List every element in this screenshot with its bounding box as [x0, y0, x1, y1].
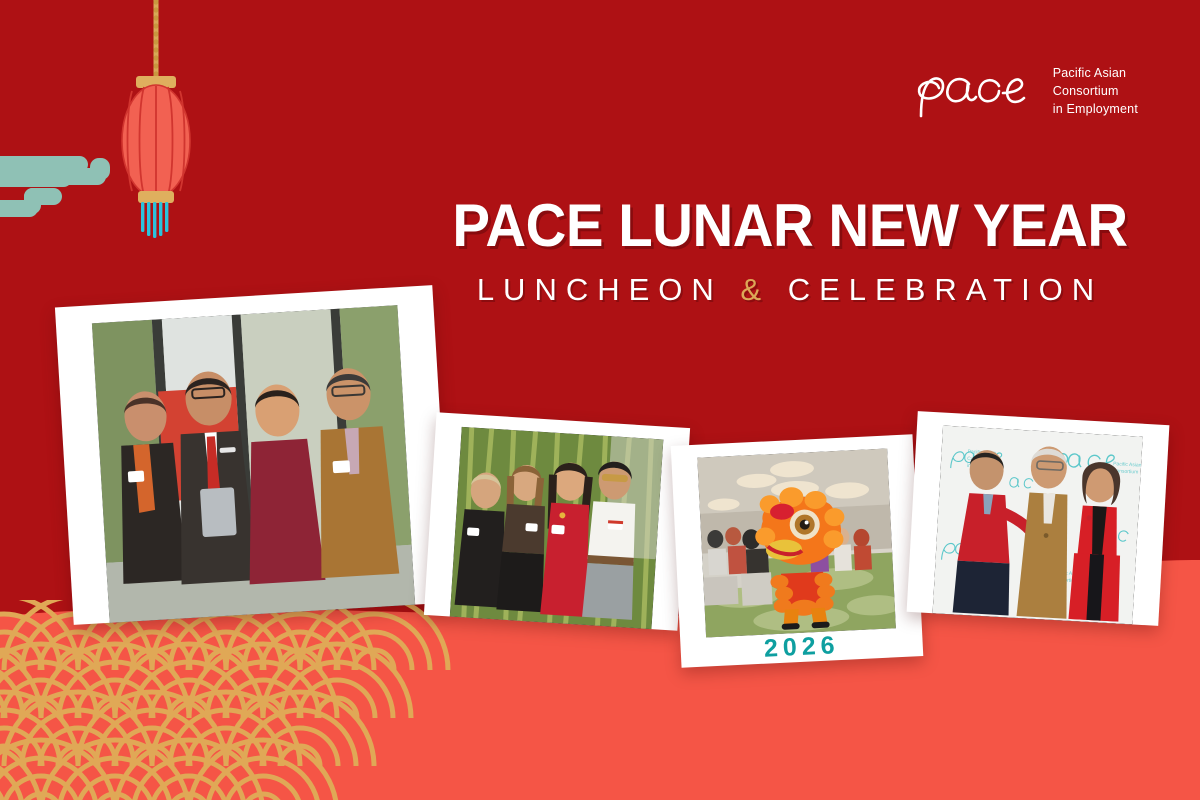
subtitle-ampersand: & — [740, 272, 770, 307]
polaroid-photo-group-bamboo[interactable] — [424, 412, 690, 631]
photo-award-presentation — [92, 305, 415, 623]
polaroid-photo-step-and-repeat[interactable]: Pacific Asian Consortium in Employment P… — [907, 411, 1170, 626]
flyer-canvas: Pacific Asian Consortium in Employment P… — [0, 0, 1200, 800]
subtitle-part-luncheon: LUNCHEON — [477, 272, 741, 307]
photo-step-and-repeat: Pacific Asian Consortium in Employment P… — [933, 426, 1143, 625]
photo-group-bamboo — [450, 427, 664, 629]
headline-block: PACE LUNAR NEW YEAR LUNCHEON & CELEBRATI… — [430, 196, 1150, 305]
polaroid-photo-award-presentation[interactable] — [55, 285, 451, 625]
pace-logo: Pacific Asian Consortium in Employment — [911, 62, 1138, 122]
subtitle-part-celebration: CELEBRATION — [770, 272, 1103, 307]
photo-lion-dance — [697, 448, 896, 637]
event-subtitle: LUNCHEON & CELEBRATION — [430, 274, 1150, 305]
event-title: PACE LUNAR NEW YEAR — [452, 196, 1129, 256]
chinese-lantern-icon — [96, 0, 216, 254]
polaroid-photo-lion-dance[interactable]: 2026 — [671, 434, 924, 668]
pace-wordmark-icon — [911, 62, 1039, 122]
seigaiha-wave-pattern — [0, 600, 490, 800]
logo-org-name: Pacific Asian Consortium in Employment — [1053, 65, 1138, 118]
